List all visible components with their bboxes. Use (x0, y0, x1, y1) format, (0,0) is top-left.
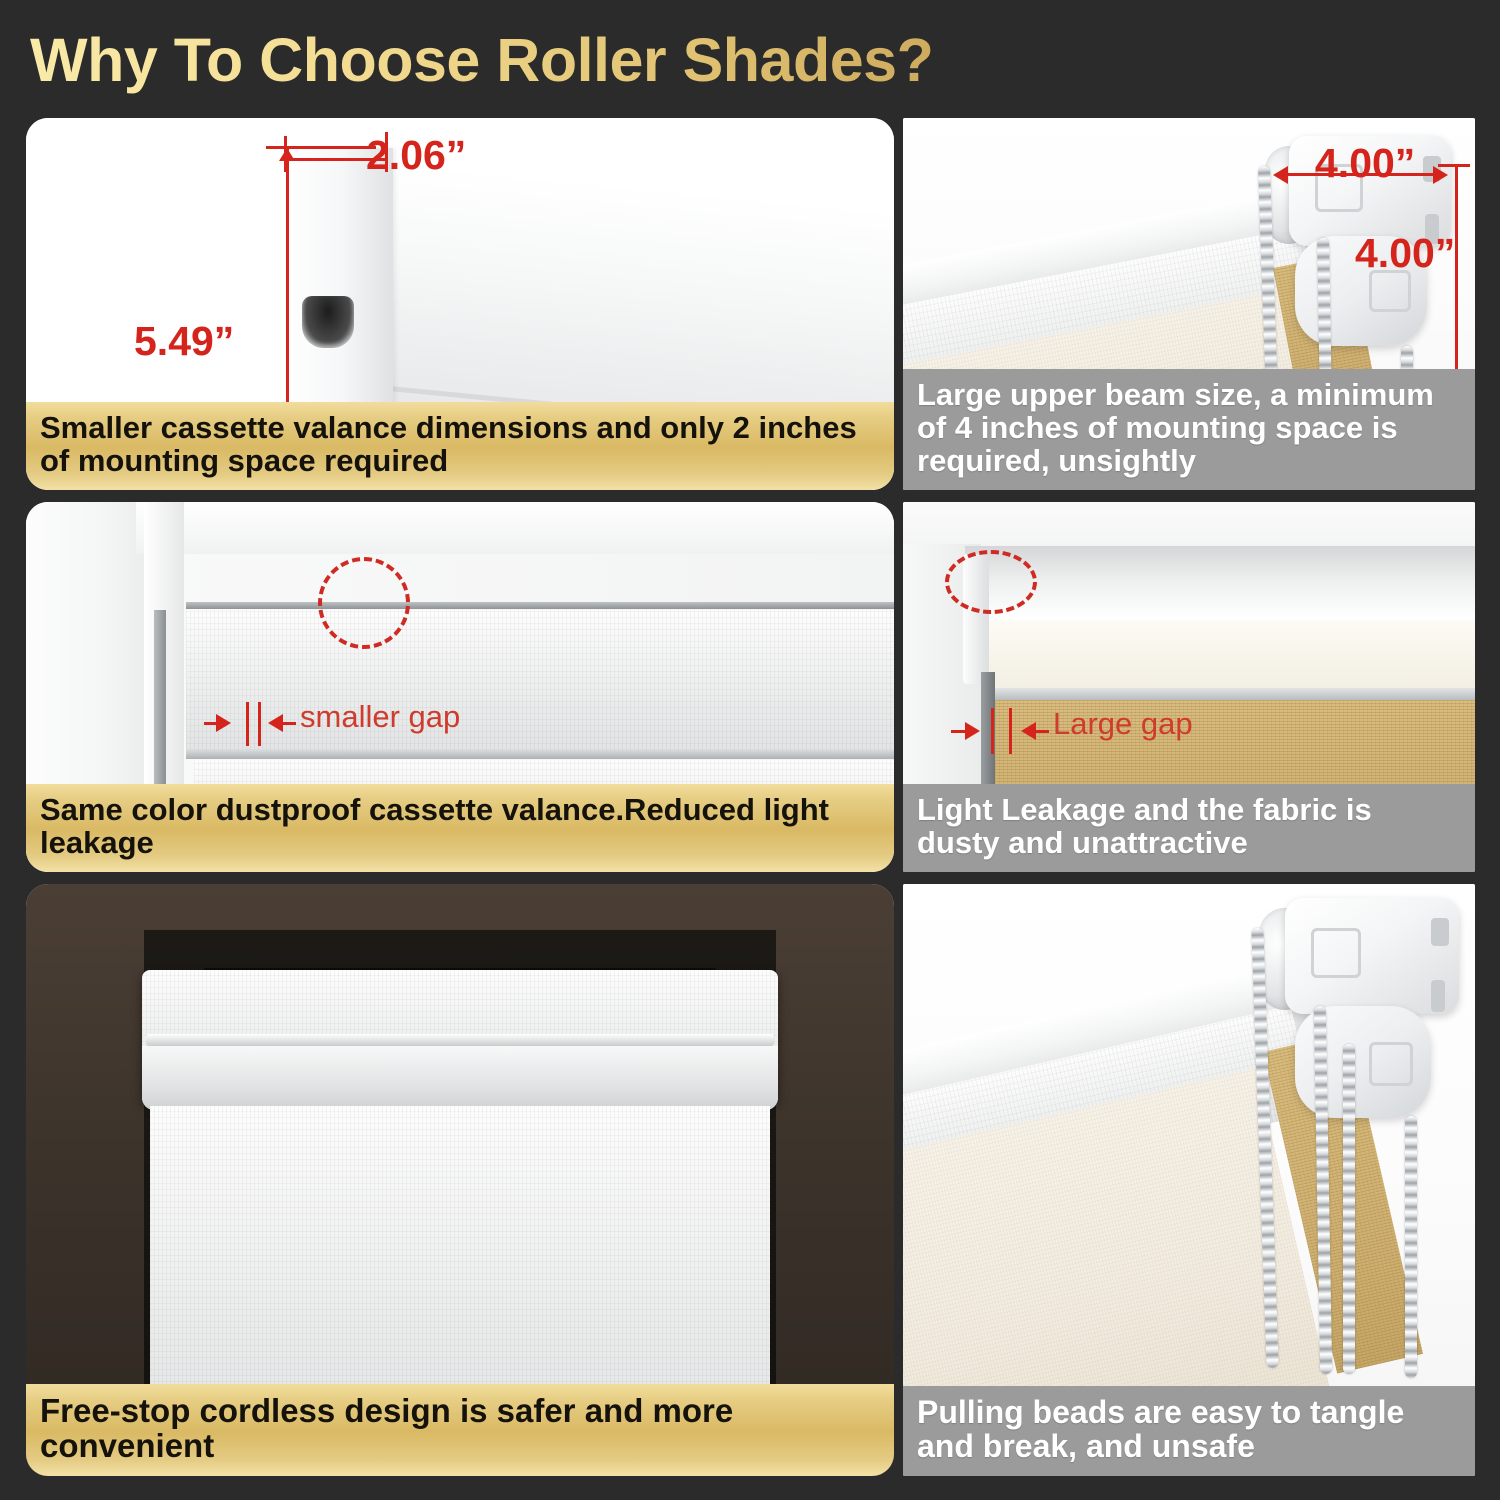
gap-arrow-left-stem (951, 730, 967, 733)
gap-tick-1 (246, 702, 249, 746)
bracket-slot-upper-icon (302, 296, 354, 348)
panel-dustproof-valance: smaller gap Same color dustproof cassett… (26, 502, 894, 872)
valance-separator (186, 750, 894, 759)
panel-smaller-cassette: 2.06” 5.49” Smaller cassette valance dim… (26, 118, 894, 490)
bracket-emblem-lower-icon (1369, 1042, 1413, 1086)
bracket-emblem-upper-icon (1311, 928, 1361, 978)
gap-arrow-right (268, 714, 283, 732)
cassette-valance (186, 610, 894, 750)
height-dimension-label: 5.49” (134, 318, 234, 365)
roller-front (142, 1046, 778, 1110)
beam-face (987, 620, 1475, 692)
panel-light-leakage: Large gap Light Leakage and the fabric i… (903, 502, 1475, 872)
bracket-notch-top (1431, 918, 1449, 946)
bracket-width-label: 4.00” (1315, 140, 1415, 187)
bracket-width-arrow-left (1273, 166, 1288, 184)
highlight-circle-icon (318, 557, 410, 649)
panel-cordless-design: Free-stop cordless design is safer and m… (26, 884, 894, 1476)
panel-6-caption: Pulling beads are easy to tangle and bre… (903, 1386, 1475, 1476)
gap-label: Large gap (1053, 706, 1193, 742)
gap-tick-2 (1009, 708, 1012, 754)
bracket-notch-bottom (1431, 980, 1445, 1012)
gap-arrow-left-stem (204, 722, 220, 725)
bead-chain-4[interactable] (1405, 1116, 1417, 1378)
panel-5-caption: Free-stop cordless design is safer and m… (26, 1384, 894, 1476)
valance-bar (146, 1034, 774, 1046)
height-dimension-arrow-up (279, 148, 295, 161)
highlight-circle-icon (945, 550, 1037, 614)
gap-label: smaller gap (300, 699, 460, 735)
bracket-height-tick-top (1438, 164, 1470, 167)
panel-large-upper-beam: 4.00” 4.00” Large upper beam size, a min… (903, 118, 1475, 490)
gap-arrow-left (965, 722, 980, 740)
bracket-height-label: 4.00” (1355, 230, 1455, 277)
bracket-width-arrow-right (1433, 166, 1448, 184)
bead-chain-3[interactable] (1343, 1044, 1355, 1374)
panel-1-caption: Smaller cassette valance dimensions and … (26, 402, 894, 490)
bracket-height-dimension-line (1455, 164, 1458, 372)
panel-2-caption: Large upper beam size, a minimum of 4 in… (903, 369, 1475, 490)
gap-tick-1 (991, 708, 994, 754)
panel-3-caption: Same color dustproof cassette valance.Re… (26, 784, 894, 872)
width-dimension-label: 2.06” (366, 132, 466, 179)
gap-arrow-right (1021, 722, 1036, 740)
panel-4-caption: Light Leakage and the fabric is dusty an… (903, 784, 1475, 872)
gap-arrow-right-stem (282, 722, 296, 725)
gap-arrow-right-stem (1035, 730, 1049, 733)
window-frame-top (136, 502, 894, 554)
valance-top-rail (186, 602, 894, 609)
panel-pulling-beads: Pulling beads are easy to tangle and bre… (903, 884, 1475, 1476)
gap-tick-2 (258, 702, 261, 746)
page-title: Why To Choose Roller Shades? (30, 24, 1230, 96)
